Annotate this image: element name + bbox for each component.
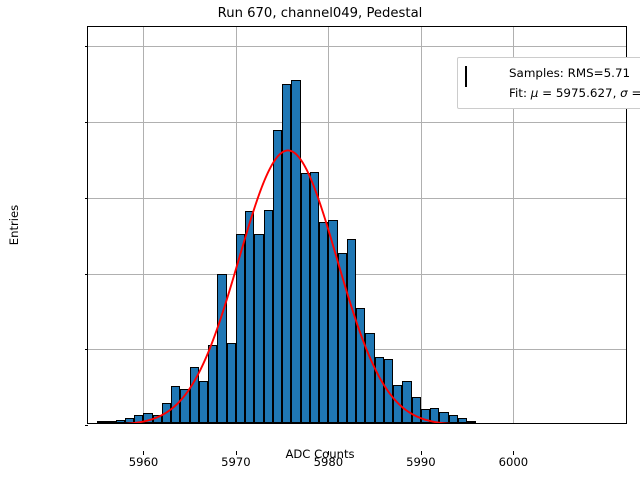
plot-axes: 02004006008001000 59605970598059906000 S… <box>87 26 627 424</box>
x-tick-mark <box>328 451 329 455</box>
legend[interactable]: Samples: RMS=5.71 Fit: μ = 5975.627, σ =… <box>457 57 640 109</box>
x-tick-label: 5990 <box>406 455 436 469</box>
legend-fit-sigma-value: = 5.288 <box>628 86 640 100</box>
y-tick-mark <box>85 46 89 47</box>
legend-entry-samples: Samples: RMS=5.71 <box>465 63 640 83</box>
x-tick-label: 6000 <box>499 455 529 469</box>
y-tick-mark <box>85 274 89 275</box>
x-tick-label: 5970 <box>221 455 251 469</box>
x-tick-mark <box>236 451 237 455</box>
fit-path <box>88 150 626 423</box>
y-axis-label: Entries <box>7 205 21 245</box>
x-tick-label: 5980 <box>314 455 344 469</box>
y-tick-mark <box>85 425 89 426</box>
x-tick-mark <box>421 451 422 455</box>
legend-fit-prefix: Fit: <box>509 86 531 100</box>
y-tick-mark <box>85 198 89 199</box>
y-tick-mark <box>85 122 89 123</box>
legend-label-samples: Samples: RMS=5.71 <box>509 66 630 80</box>
legend-line-fit <box>465 86 501 100</box>
figure: Run 670, channel049, Pedestal Entries AD… <box>0 0 640 480</box>
y-tick-mark <box>85 349 89 350</box>
x-tick-label: 5960 <box>129 455 159 469</box>
legend-fit-mu-value: = 5975.627, <box>538 86 620 100</box>
x-tick-mark <box>513 451 514 455</box>
chart-title: Run 670, channel049, Pedestal <box>0 4 640 24</box>
x-tick-mark <box>143 451 144 455</box>
legend-label-fit: Fit: μ = 5975.627, σ = 5.288 <box>509 86 640 100</box>
legend-entry-fit: Fit: μ = 5975.627, σ = 5.288 <box>465 83 640 103</box>
legend-fit-sigma-symbol: σ <box>620 86 628 100</box>
legend-swatch-samples <box>465 66 501 80</box>
